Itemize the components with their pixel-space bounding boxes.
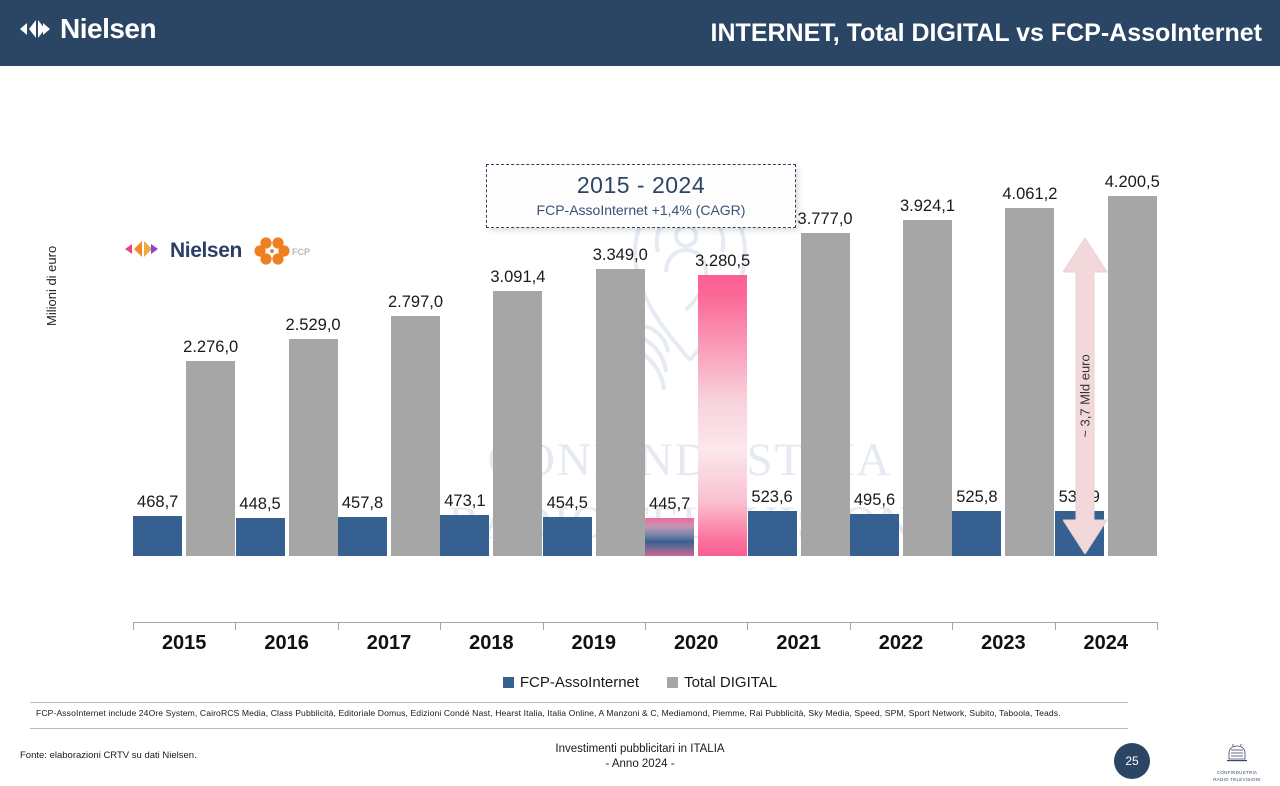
bar-fcp-assointernet[interactable]: 523,6: [748, 511, 797, 556]
legend-label: Total DIGITAL: [684, 674, 777, 691]
bar-value-label: 445,7: [649, 495, 690, 514]
bar-group: 495,63.924,1: [850, 162, 952, 556]
x-axis-tick-label: 2020: [645, 632, 747, 655]
bar-value-label: 2.529,0: [286, 316, 341, 335]
bar-group: 525,84.061,2: [952, 162, 1054, 556]
bar-fcp-assointernet[interactable]: 468,7: [133, 516, 182, 556]
bar-fcp-assointernet[interactable]: 495,6: [850, 514, 899, 556]
bar-group: 448,52.529,0: [235, 162, 337, 556]
bar-total-digital[interactable]: 4.061,2: [1005, 208, 1054, 556]
axis-tick: [645, 622, 646, 630]
legend-item[interactable]: FCP-AssoInternet: [503, 674, 639, 691]
bar-total-digital[interactable]: 3.280,5: [698, 275, 747, 556]
bar-group: 473,13.091,4: [440, 162, 542, 556]
footnote-text: FCP-AssoInternet include 24Ore System, C…: [36, 708, 1136, 718]
plot-area: 468,72.276,0448,52.529,0457,82.797,0473,…: [133, 162, 1157, 556]
bar-group: 457,82.797,0: [338, 162, 440, 556]
bar-total-digital[interactable]: 2.529,0: [289, 339, 338, 556]
footnote-divider-bottom: [30, 728, 1128, 729]
page-number-badge: 25: [1114, 743, 1150, 779]
bar-fcp-assointernet[interactable]: 457,8: [338, 517, 387, 556]
bar-value-label: 468,7: [137, 493, 178, 512]
bar-value-label: 3.280,5: [695, 252, 750, 271]
bar-value-label: 3.349,0: [593, 246, 648, 265]
bar-value-label: 457,8: [342, 494, 383, 513]
crtv-logo: CONFINDUSTRIA RADIO TELEVISIONI: [1208, 744, 1266, 780]
slide-footer: Fonte: elaborazioni CRTV su dati Nielsen…: [0, 736, 1280, 786]
nielsen-wordmark: Nielsen: [60, 16, 156, 42]
x-axis-tick-label: 2023: [952, 632, 1054, 655]
axis-tick: [952, 622, 953, 630]
axis-tick: [440, 622, 441, 630]
bar-group: 468,72.276,0: [133, 162, 235, 556]
legend-label: FCP-AssoInternet: [520, 674, 639, 691]
chart-legend: FCP-AssoInternetTotal DIGITAL: [0, 674, 1280, 691]
bar-total-digital[interactable]: 2.797,0: [391, 316, 440, 556]
bar-total-digital[interactable]: 2.276,0: [186, 361, 235, 556]
bar-value-label: 454,5: [547, 494, 588, 513]
legend-swatch: [503, 677, 514, 688]
bar-value-label: 3.777,0: [798, 210, 853, 229]
nielsen-logo: Nielsen: [18, 16, 156, 42]
bar-total-digital[interactable]: 3.349,0: [596, 269, 645, 556]
axis-tick: [1055, 622, 1056, 630]
crtv-logo-line-2: RADIO TELEVISIONI: [1208, 777, 1266, 783]
bar-fcp-assointernet[interactable]: 448,5: [236, 518, 285, 556]
footer-center-line-1: Investimenti pubblicitari in ITALIA: [0, 742, 1280, 757]
bar-total-digital[interactable]: 4.200,5: [1108, 196, 1157, 556]
axis-tick: [850, 622, 851, 630]
bar-total-digital[interactable]: 3.091,4: [493, 291, 542, 556]
axis-tick: [1157, 622, 1158, 630]
bar-group: 454,53.349,0: [543, 162, 645, 556]
x-axis-tick-label: 2024: [1055, 632, 1157, 655]
bar-value-label: 473,1: [444, 492, 485, 511]
crtv-logo-line-1: CONFINDUSTRIA: [1208, 770, 1266, 776]
bar-fcp-assointernet[interactable]: 473,1: [440, 515, 489, 556]
bar-value-label: 3.091,4: [490, 268, 545, 287]
bar-fcp-assointernet[interactable]: 454,5: [543, 517, 592, 556]
legend-swatch: [667, 677, 678, 688]
nielsen-chevron-logo-icon: [18, 16, 52, 42]
header-bar: Nielsen INTERNET, Total DIGITAL vs FCP-A…: [0, 0, 1280, 66]
bar-group: 445,73.280,5: [645, 162, 747, 556]
bar-value-label: 448,5: [239, 495, 280, 514]
crtv-emblem-icon: [1208, 744, 1266, 764]
bar-total-digital[interactable]: 3.777,0: [801, 233, 850, 557]
x-axis-tick-label: 2021: [747, 632, 849, 655]
slide-body: CONFINDUSTRIA RADIO TELEVISIONI Milioni …: [0, 66, 1280, 720]
bar-value-label: 523,6: [751, 488, 792, 507]
x-axis-tick-label: 2016: [235, 632, 337, 655]
footer-center-text: Investimenti pubblicitari in ITALIA - An…: [0, 742, 1280, 772]
bar-fcp-assointernet[interactable]: 445,7: [645, 518, 694, 556]
x-axis-labels: 2015201620172018201920202021202220232024: [133, 632, 1157, 662]
footnote-divider-top: [30, 702, 1128, 703]
bar-value-label: 2.276,0: [183, 338, 238, 357]
bar-group: 523,63.777,0: [747, 162, 849, 556]
x-axis-tick-label: 2018: [440, 632, 542, 655]
legend-item[interactable]: Total DIGITAL: [667, 674, 777, 691]
page-title: INTERNET, Total DIGITAL vs FCP-AssoInter…: [711, 19, 1262, 48]
x-axis-tick-label: 2019: [543, 632, 645, 655]
bar-value-label: 525,8: [956, 488, 997, 507]
delta-arrow-label: ~ 3,7 Mld euro: [1078, 354, 1093, 437]
bar-value-label: 2.797,0: [388, 293, 443, 312]
delta-arrow-annotation: ~ 3,7 Mld euro: [1063, 238, 1107, 554]
bar-value-label: 495,6: [854, 491, 895, 510]
axis-tick: [133, 622, 134, 630]
bar-value-label: 4.200,5: [1105, 173, 1160, 192]
footer-center-line-2: - Anno 2024 -: [0, 757, 1280, 772]
bar-value-label: 3.924,1: [900, 197, 955, 216]
bar-fcp-assointernet[interactable]: 525,8: [952, 511, 1001, 556]
x-axis-tick-label: 2017: [338, 632, 440, 655]
bar-value-label: 4.061,2: [1002, 185, 1057, 204]
x-axis-tick-label: 2015: [133, 632, 235, 655]
axis-tick: [338, 622, 339, 630]
axis-tick: [747, 622, 748, 630]
axis-tick: [543, 622, 544, 630]
bar-total-digital[interactable]: 3.924,1: [903, 220, 952, 556]
axis-tick: [235, 622, 236, 630]
x-axis-tick-label: 2022: [850, 632, 952, 655]
